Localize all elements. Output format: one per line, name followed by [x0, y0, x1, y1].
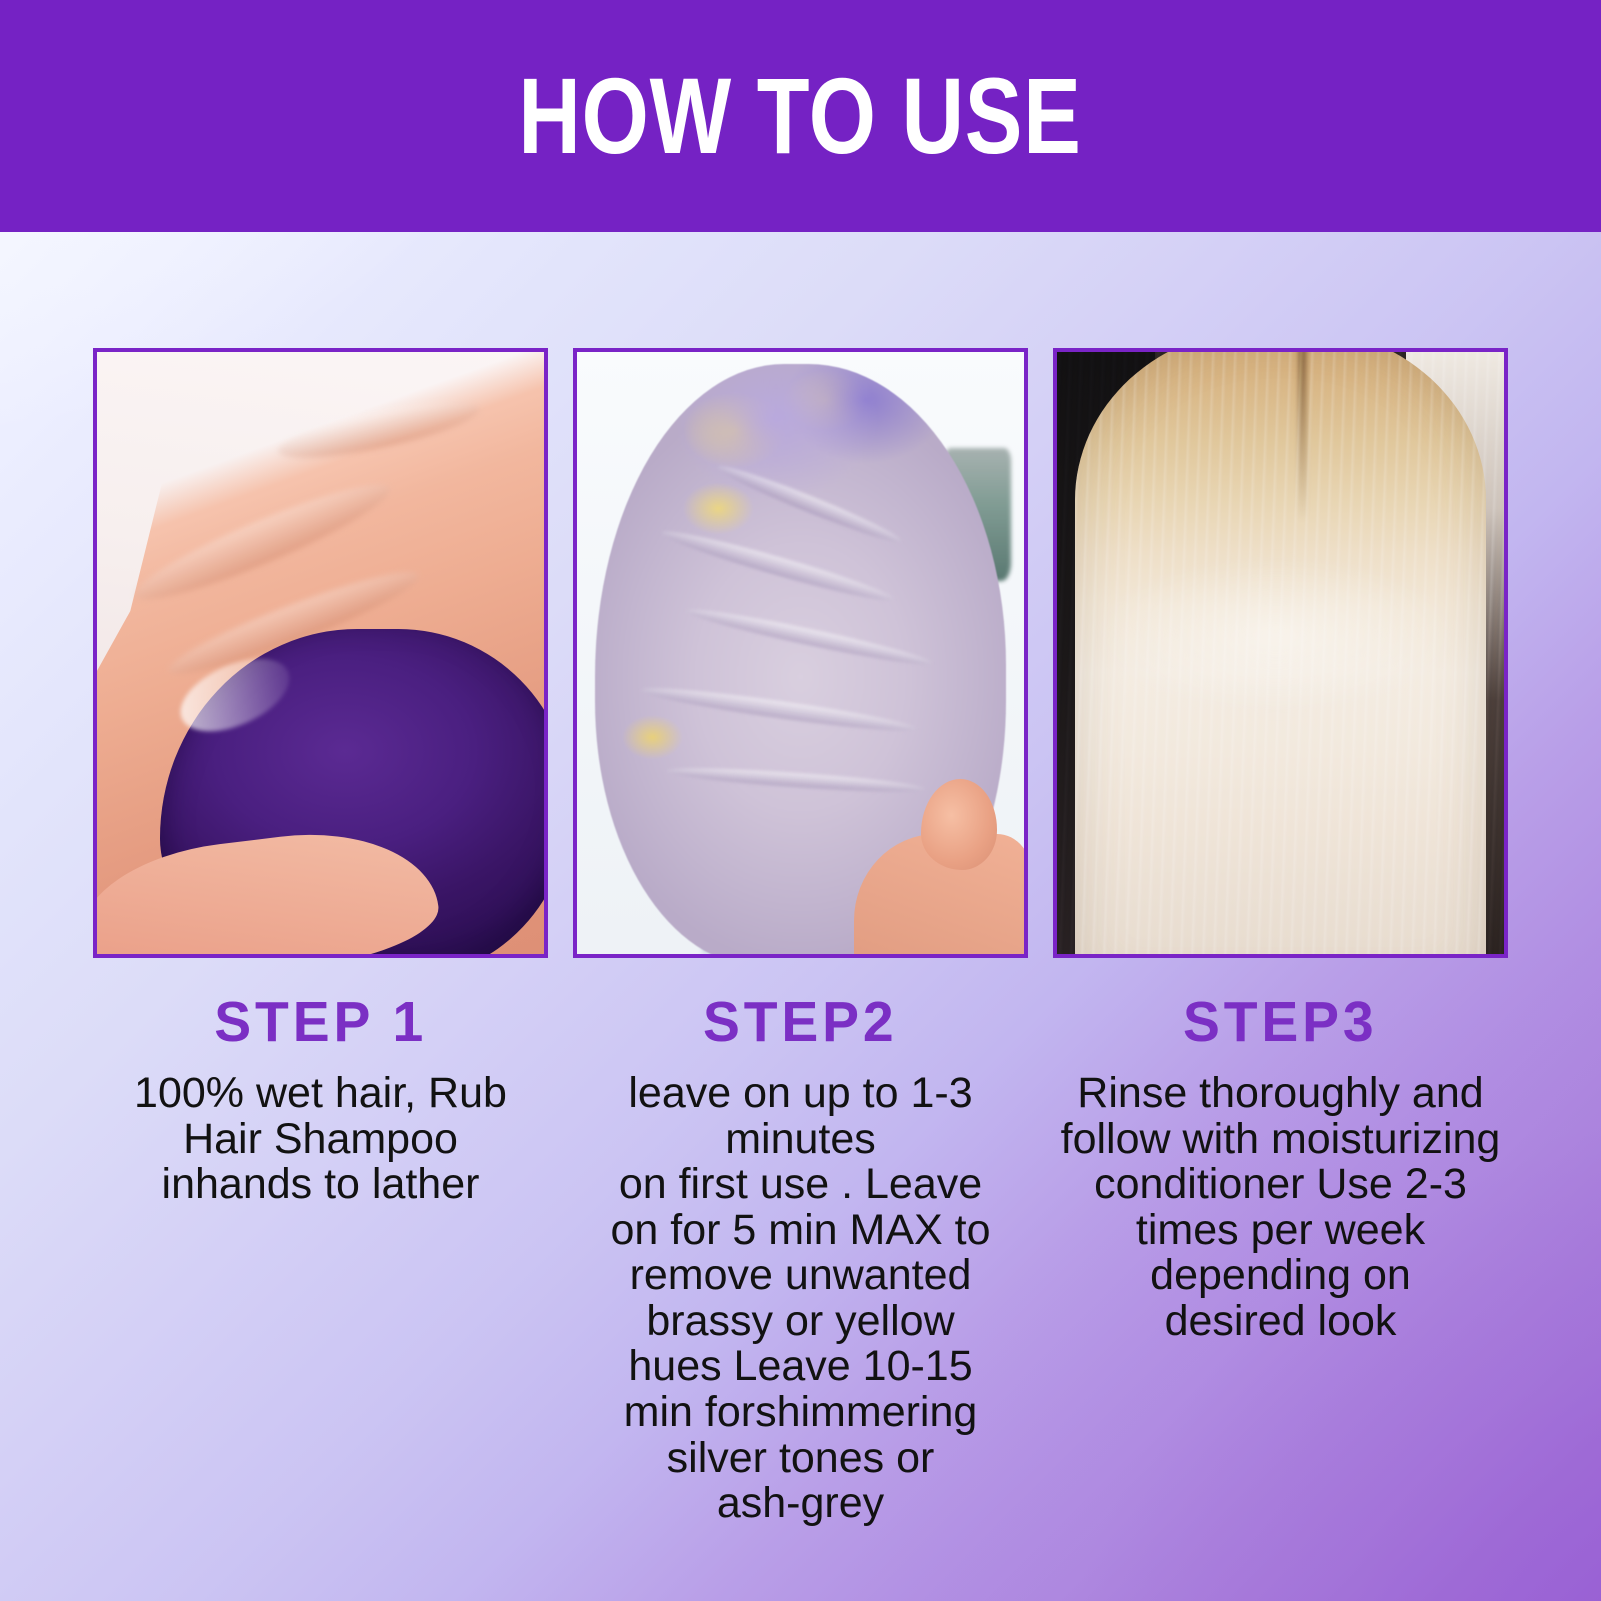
hair-sheen — [1093, 557, 1460, 714]
step-column-2: STEP2 leave on up to 1-3 minutes on firs… — [573, 348, 1028, 1527]
steps-row: STEP 1 100% wet hair, Rub Hair Shampoo i… — [0, 348, 1601, 1527]
platinum-blonde-result-image — [1057, 352, 1504, 954]
step-2-label: STEP2 — [703, 994, 898, 1051]
step-column-1: STEP 1 100% wet hair, Rub Hair Shampoo i… — [93, 348, 548, 1208]
step-3-body: Rinse thoroughly and follow with moistur… — [1055, 1071, 1507, 1344]
lathering-hair-image — [577, 352, 1024, 954]
how-to-use-infographic: HOW TO USE STEP 1 100% wet hair, Rub Hai… — [0, 0, 1601, 1601]
step-3-label: STEP3 — [1183, 994, 1378, 1051]
step-2-body: leave on up to 1-3 minutes on first use … — [575, 1071, 1027, 1527]
step-1-label: STEP 1 — [214, 994, 427, 1051]
step-3-photo-frame — [1053, 348, 1508, 958]
step-2-photo-frame — [573, 348, 1028, 958]
hand-with-purple-shampoo-image — [97, 352, 544, 954]
page-title: HOW TO USE — [519, 62, 1082, 170]
step-1-body: 100% wet hair, Rub Hair Shampoo inhands … — [95, 1071, 547, 1208]
step-1-photo-frame — [93, 348, 548, 958]
ear — [921, 779, 997, 869]
header-band: HOW TO USE — [0, 0, 1601, 232]
step-column-3: STEP3 Rinse thoroughly and follow with m… — [1053, 348, 1508, 1344]
